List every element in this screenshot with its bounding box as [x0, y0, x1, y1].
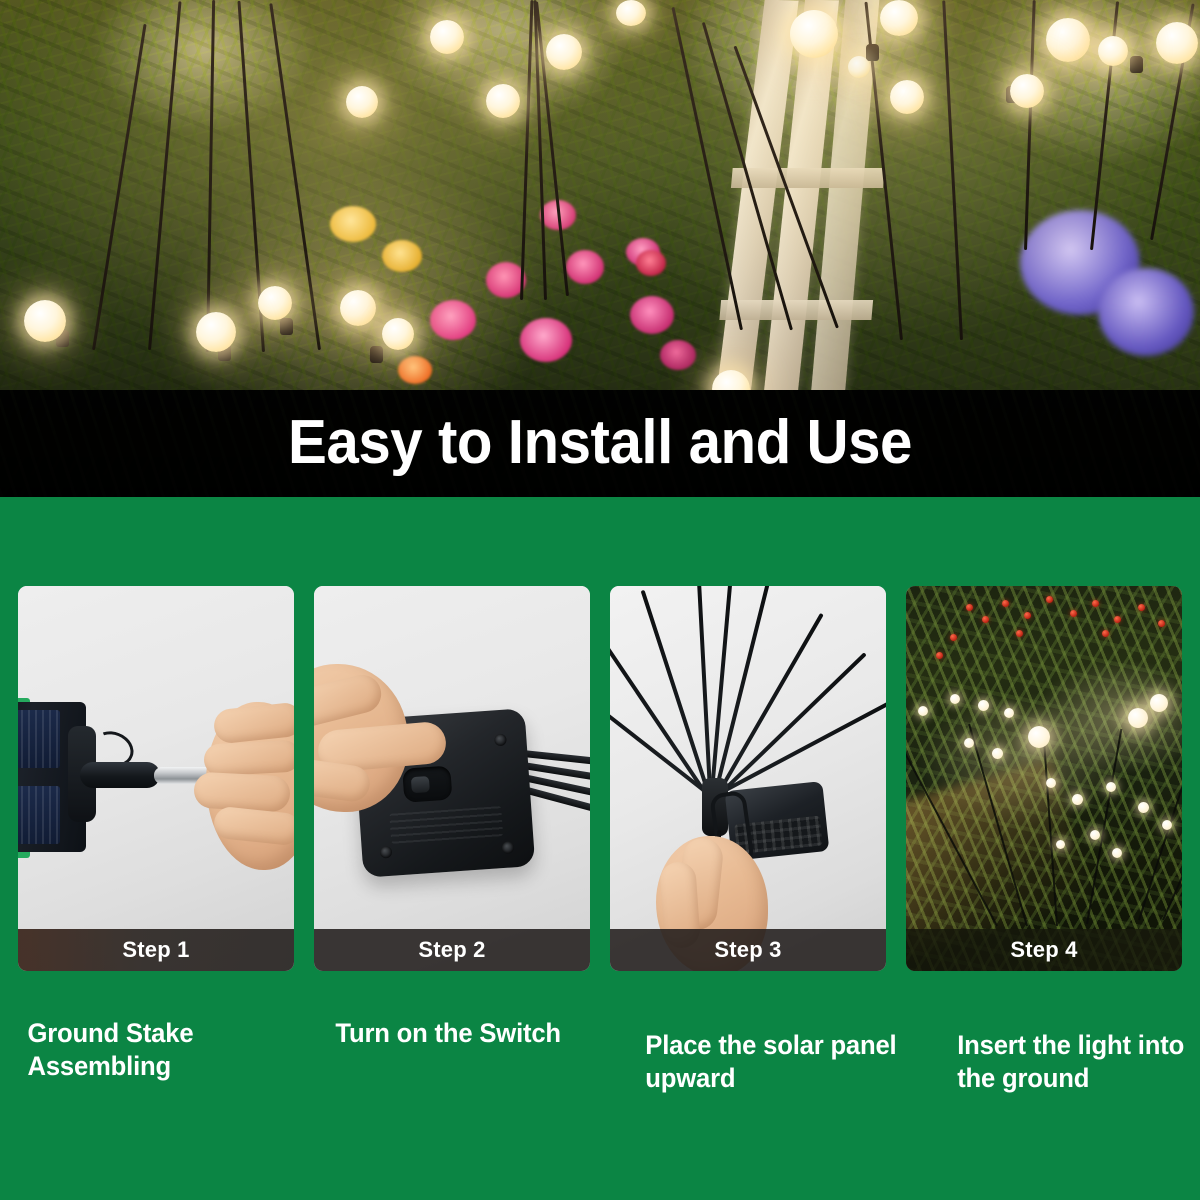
red-berry — [1002, 600, 1009, 607]
solar-cell — [18, 786, 60, 844]
screw — [502, 841, 515, 854]
light-bulb — [24, 300, 66, 342]
light-bulb — [1112, 848, 1122, 858]
red-berry — [1070, 610, 1077, 617]
light-bulb — [890, 80, 924, 114]
light-bulb — [978, 700, 989, 711]
red-berry — [936, 652, 943, 659]
light-bulb — [1150, 694, 1168, 712]
power-switch[interactable] — [402, 766, 452, 803]
red-berry — [1114, 616, 1121, 623]
step-1-badge-bar: Step 1 — [18, 929, 294, 971]
light-bulb — [486, 84, 520, 118]
light-bulb — [918, 706, 928, 716]
red-berry — [982, 616, 989, 623]
light-bulb — [346, 86, 378, 118]
light-bulb — [1162, 820, 1172, 830]
step-3-caption: Place the solar panel upward — [632, 1017, 908, 1095]
red-berry — [950, 634, 957, 641]
step-card-4[interactable]: Step 4 — [906, 586, 1182, 971]
red-berry — [1092, 600, 1099, 607]
bulb-socket — [370, 346, 383, 363]
step-3-label: Step 3 — [714, 937, 781, 963]
light-bulb — [848, 56, 870, 78]
hero-photo: Easy to Install and Use — [0, 0, 1200, 497]
step-3-badge-bar: Step 3 — [610, 929, 886, 971]
step-2-badge-bar: Step 2 — [314, 929, 590, 971]
light-bulb — [546, 34, 582, 70]
step-1-label: Step 1 — [122, 937, 189, 963]
light-bulb — [1156, 22, 1198, 64]
step-1-photo — [18, 586, 294, 971]
step-4-photo — [906, 586, 1182, 971]
switch-nub — [411, 776, 430, 793]
light-bulb — [1072, 794, 1083, 805]
light-bulb — [880, 0, 918, 36]
step-card-1[interactable]: Step 1 — [18, 586, 294, 971]
light-bulb — [1098, 36, 1128, 66]
red-berry — [1102, 630, 1109, 637]
bulb-socket — [1130, 56, 1143, 73]
light-bulb — [1046, 18, 1090, 62]
screw — [380, 846, 393, 859]
solar-cell — [18, 710, 60, 768]
light-bulb — [1056, 840, 1065, 849]
light-bulb — [964, 738, 974, 748]
light-bulb — [382, 318, 414, 350]
light-bulb — [196, 312, 236, 352]
step-2-label: Step 2 — [418, 937, 485, 963]
step-2-photo — [314, 586, 590, 971]
light-bulb — [430, 20, 464, 54]
stake-connector — [80, 762, 160, 788]
light-bulb — [1138, 802, 1149, 813]
step-cards-row: Step 1 — [18, 586, 1182, 971]
step-captions-row: Ground Stake Assembling Turn on the Swit… — [18, 1017, 1182, 1095]
step-3-photo — [610, 586, 886, 971]
light-bulb — [258, 286, 292, 320]
step-card-3[interactable]: Step 3 — [610, 586, 886, 971]
steps-section: Step 1 — [0, 497, 1200, 1200]
bulb-socket — [280, 318, 293, 335]
step-2-caption: Turn on the Switch — [324, 1017, 598, 1095]
step-4-label: Step 4 — [1010, 937, 1077, 963]
thumb — [193, 772, 291, 813]
light-bulb — [1106, 782, 1116, 792]
red-berry — [1138, 604, 1145, 611]
step-4-caption: Insert the light into the ground — [942, 1017, 1200, 1095]
light-bulb — [340, 290, 376, 326]
light-bulb — [1028, 726, 1050, 748]
step-4-badge-bar: Step 4 — [906, 929, 1182, 971]
light-bulb — [1090, 830, 1100, 840]
light-bulb — [1128, 708, 1148, 728]
red-berry — [1046, 596, 1053, 603]
product-infographic: Easy to Install and Use — [0, 0, 1200, 1200]
light-bulb — [790, 10, 838, 58]
molded-label-text — [389, 806, 503, 844]
step-card-2[interactable]: Step 2 — [314, 586, 590, 971]
light-bulb — [992, 748, 1003, 759]
headline-band: Easy to Install and Use — [0, 390, 1200, 497]
red-berry — [1024, 612, 1031, 619]
light-bulb — [950, 694, 960, 704]
red-berry — [1016, 630, 1023, 637]
red-berry — [1158, 620, 1165, 627]
light-bulb — [1010, 74, 1044, 108]
light-bulb — [1046, 778, 1056, 788]
page-title: Easy to Install and Use — [36, 406, 1164, 480]
red-berry — [966, 604, 973, 611]
step-1-caption: Ground Stake Assembling — [18, 1017, 290, 1095]
light-bulb — [616, 0, 646, 26]
light-bulb — [1004, 708, 1014, 718]
bulb-socket — [866, 44, 879, 61]
finger — [203, 740, 294, 777]
screw — [494, 734, 507, 747]
